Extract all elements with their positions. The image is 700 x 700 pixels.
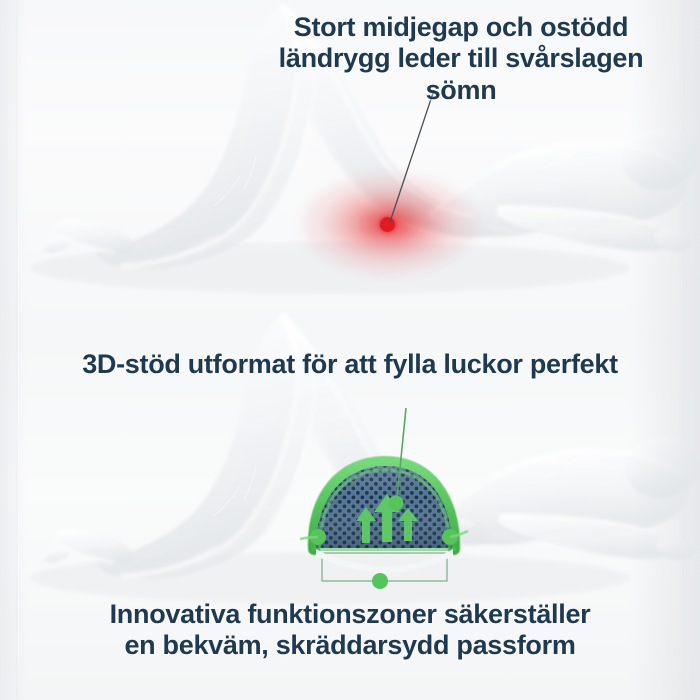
solution-headline: 3D-stöd utformat för att fylla luckor pe… <box>0 349 700 380</box>
problem-headline: Stort midjegap och ostödd ländrygg leder… <box>246 12 676 106</box>
benefit-headline: Innovativa funktionszoner säkerställer e… <box>0 599 700 662</box>
pain-point-marker <box>380 217 395 232</box>
infographic-canvas: Stort midjegap och ostödd ländrygg leder… <box>0 0 700 700</box>
